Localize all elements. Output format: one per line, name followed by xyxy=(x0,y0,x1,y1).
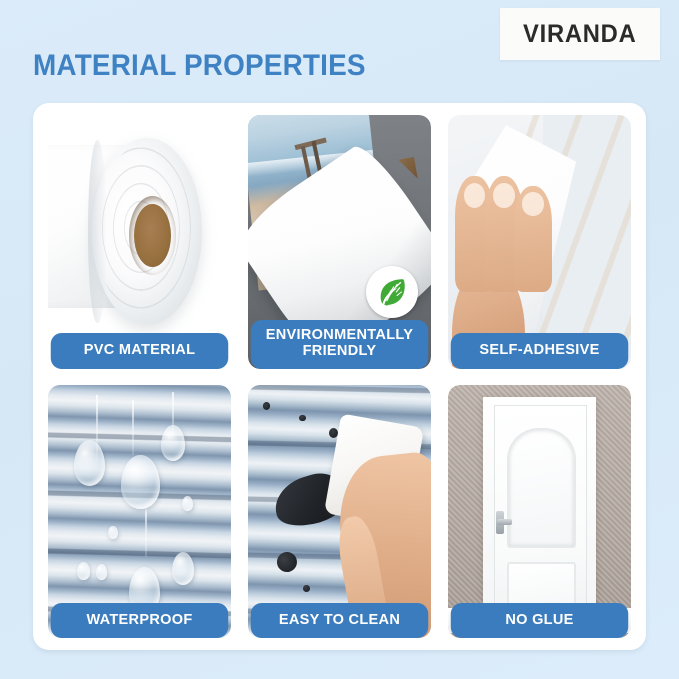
feature-caption: NO GLUE xyxy=(451,603,629,638)
feature-caption: ENVIRONMENTALLY FRIENDLY xyxy=(251,320,429,368)
feature-caption: PVC MATERIAL xyxy=(51,333,229,368)
feature-grid: PVC MATERIAL xyxy=(48,115,631,638)
feature-card-environmentally-friendly[interactable]: ENVIRONMENTALLY FRIENDLY xyxy=(248,115,431,369)
feature-card-no-glue[interactable]: NO GLUE xyxy=(448,385,631,639)
feature-card-pvc-material[interactable]: PVC MATERIAL xyxy=(48,115,231,369)
water-droplets-on-wood-photo xyxy=(48,385,231,639)
eco-leaf-icon xyxy=(366,266,418,318)
page-title: MATERIAL PROPERTIES xyxy=(33,49,366,83)
feature-caption: SELF-ADHESIVE xyxy=(451,333,629,368)
infographic-page: VIRANDA MATERIAL PROPERTIES PVC MATERIAL xyxy=(0,0,679,679)
feature-panel: PVC MATERIAL xyxy=(33,103,646,650)
brand-logo-box: VIRANDA xyxy=(500,8,660,60)
hand-wiping-stains-photo xyxy=(248,385,431,639)
white-pvc-roll-photo xyxy=(48,115,231,369)
feature-card-self-adhesive[interactable]: SELF-ADHESIVE xyxy=(448,115,631,369)
brand-logo-text: VIRANDA xyxy=(523,20,637,49)
feature-card-easy-to-clean[interactable]: EASY TO CLEAN xyxy=(248,385,431,639)
feature-caption: EASY TO CLEAN xyxy=(251,603,429,638)
hands-peeling-marble-sheet-photo xyxy=(448,115,631,369)
feature-card-waterproof[interactable]: WATERPROOF xyxy=(48,385,231,639)
white-panel-door-photo xyxy=(448,385,631,639)
feature-caption: WATERPROOF xyxy=(51,603,229,638)
